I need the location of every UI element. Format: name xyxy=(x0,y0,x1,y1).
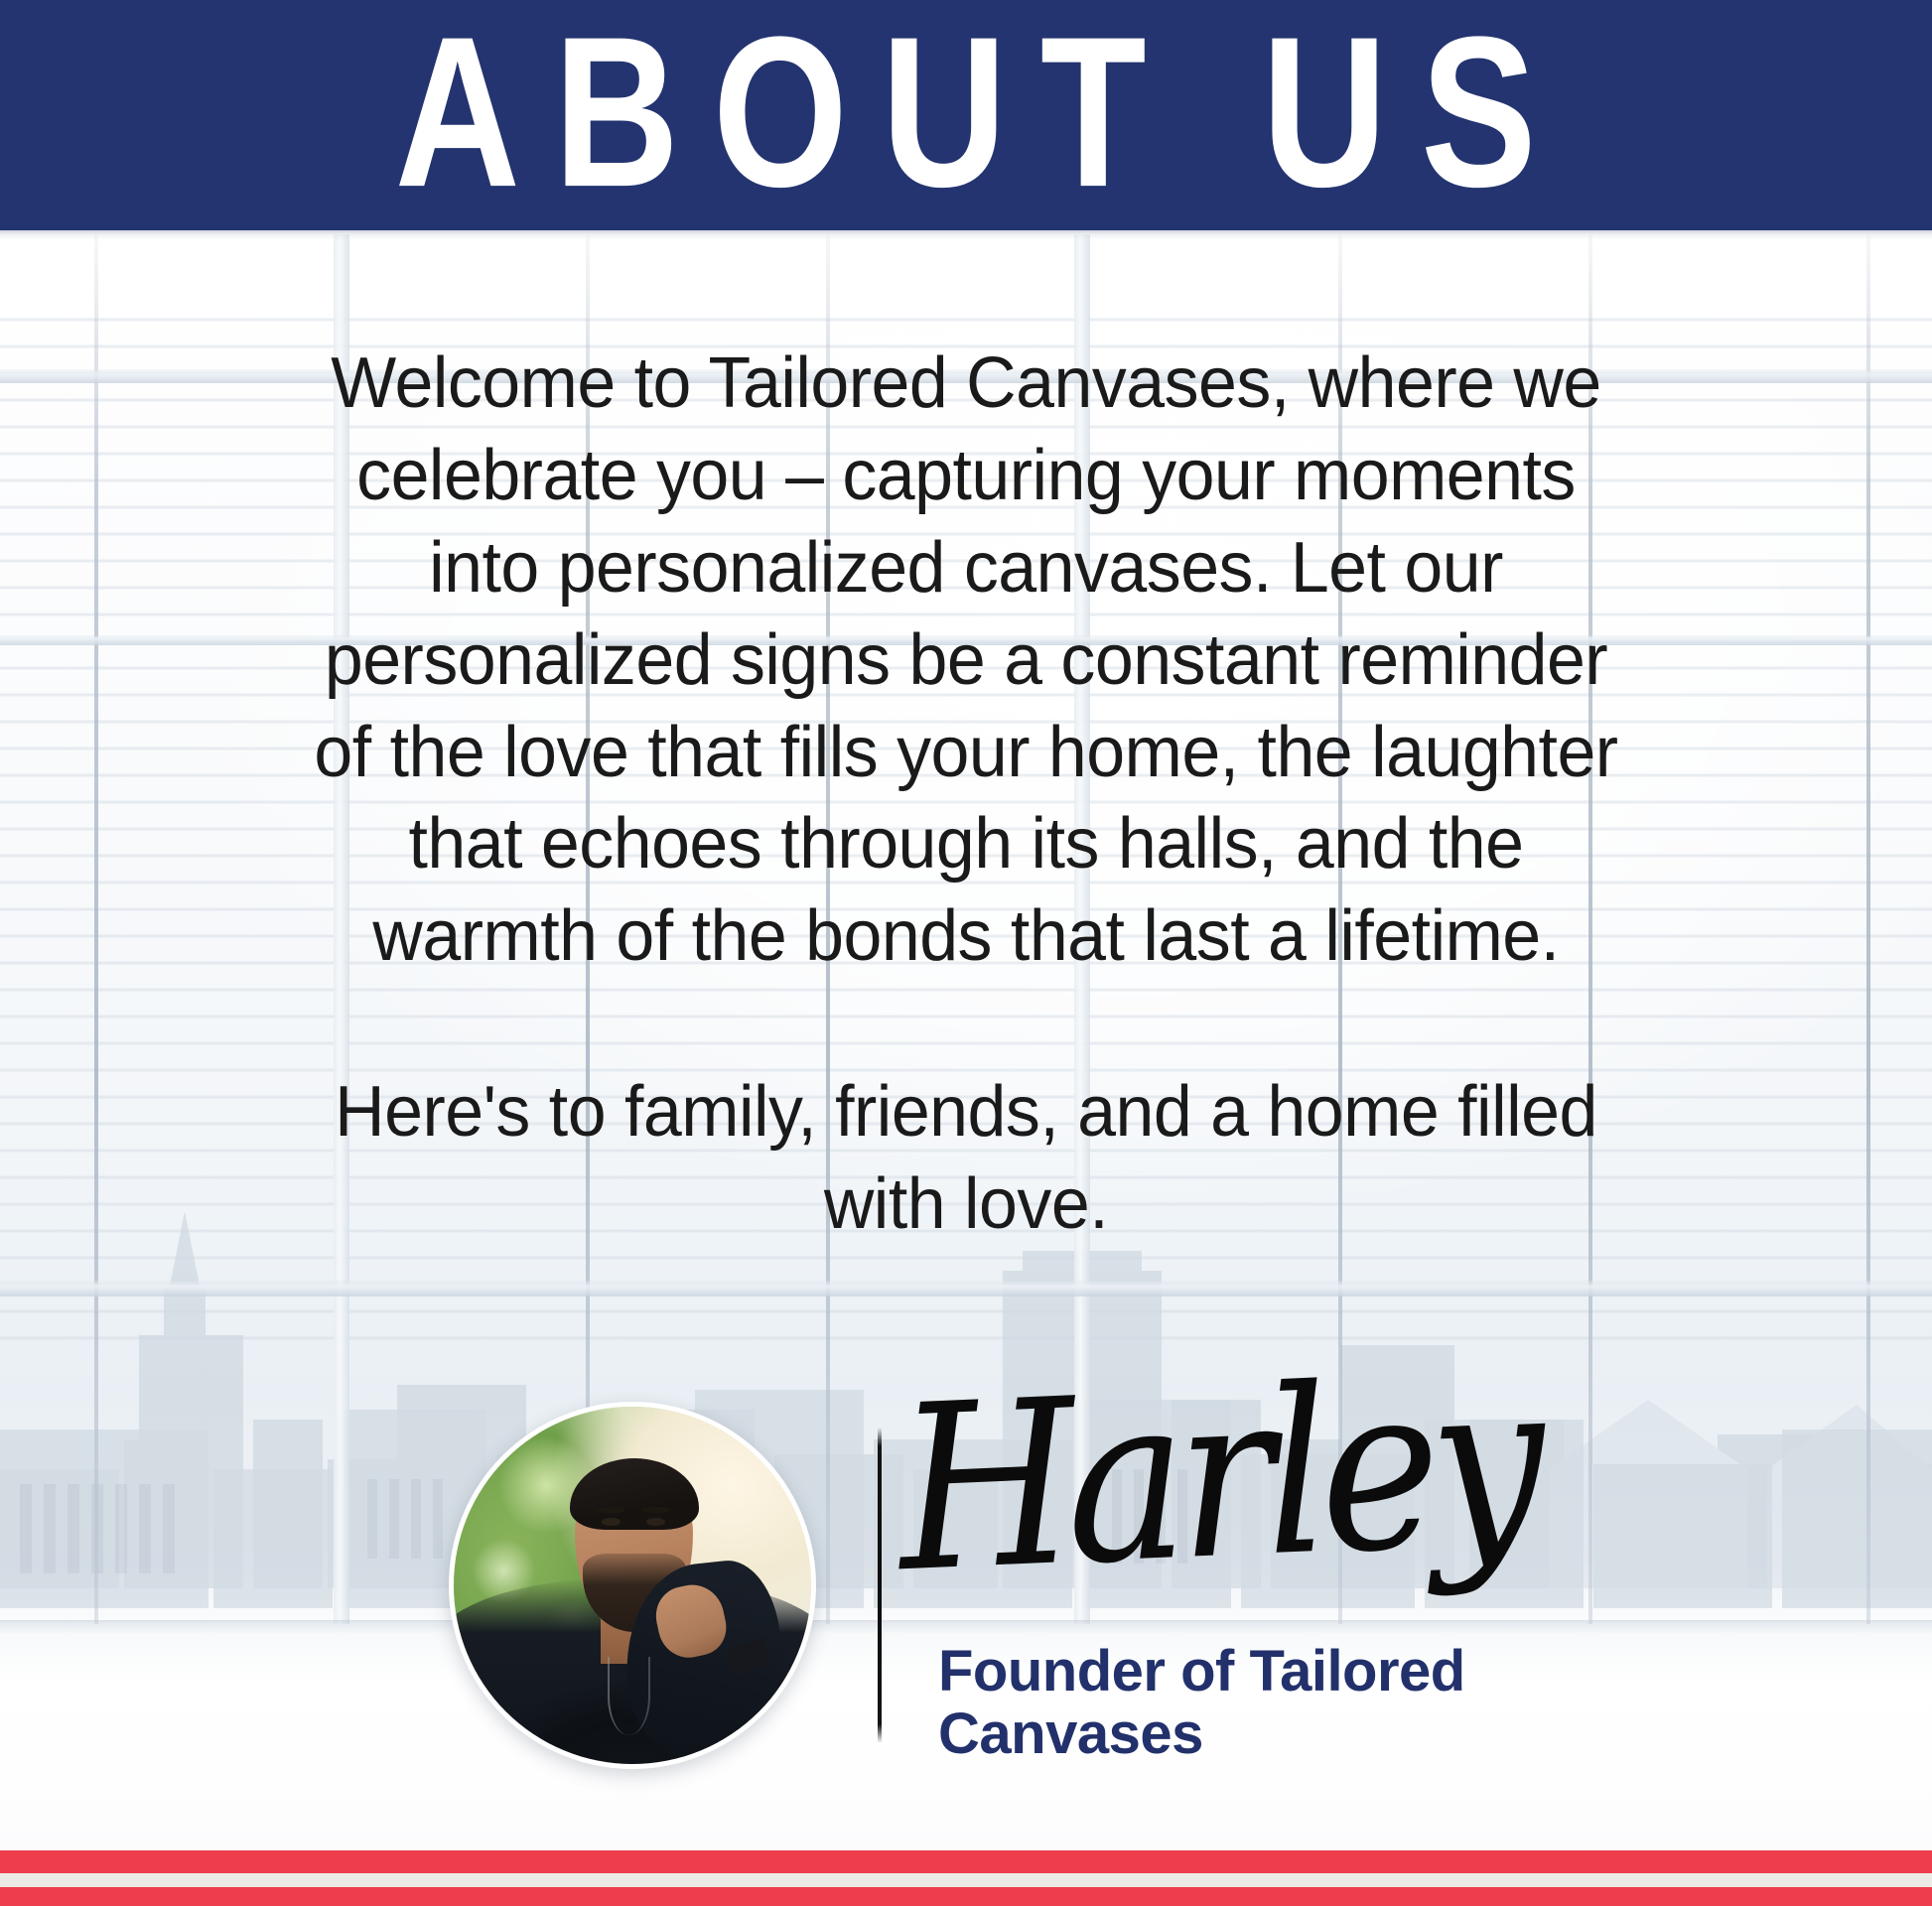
header-underline xyxy=(0,230,1932,240)
copy-line: warmth of the bonds that last a lifetime… xyxy=(282,890,1649,983)
founder-role-line-1: Founder of Tailored xyxy=(938,1641,1534,1703)
avatar-brow-right xyxy=(642,1507,669,1513)
avatar-brow-left xyxy=(598,1507,624,1513)
footer-stripe-gap xyxy=(0,1873,1932,1887)
copy-line: with love. xyxy=(282,1158,1649,1251)
page-title: ABOUT US xyxy=(361,6,1571,220)
copy-line: celebrate you – capturing your moments xyxy=(282,430,1649,522)
header-banner: ABOUT US xyxy=(0,0,1932,230)
footer-stripe-top xyxy=(0,1850,1932,1873)
copy-line: Here's to family, friends, and a home fi… xyxy=(282,1066,1649,1158)
founder-signature: Harley xyxy=(894,1350,1540,1605)
copy-line: into personalized canvases. Let our xyxy=(282,522,1649,614)
paragraph-gap xyxy=(261,983,1671,1066)
footer-stripe-bottom xyxy=(0,1887,1932,1906)
signature-divider xyxy=(878,1428,882,1743)
copy-line: Welcome to Tailored Canvases, where we xyxy=(282,338,1649,430)
copy-line: that echoes through its halls, and the xyxy=(282,798,1649,890)
copy-line: personalized signs be a constant reminde… xyxy=(282,614,1649,707)
avatar-necklace xyxy=(608,1657,651,1735)
founder-role: Founder of Tailored Canvases xyxy=(938,1641,1534,1765)
avatar-photo xyxy=(454,1407,811,1764)
about-us-body-copy: Welcome to Tailored Canvases, where we c… xyxy=(261,338,1671,1251)
founder-role-line-2: Canvases xyxy=(938,1703,1534,1766)
avatar-hair xyxy=(570,1458,699,1530)
avatar xyxy=(449,1402,816,1769)
copy-line: of the love that fills your home, the la… xyxy=(282,707,1649,799)
about-us-poster: ABOUT US Welcome to Tailored Canvases, w… xyxy=(0,0,1932,1906)
